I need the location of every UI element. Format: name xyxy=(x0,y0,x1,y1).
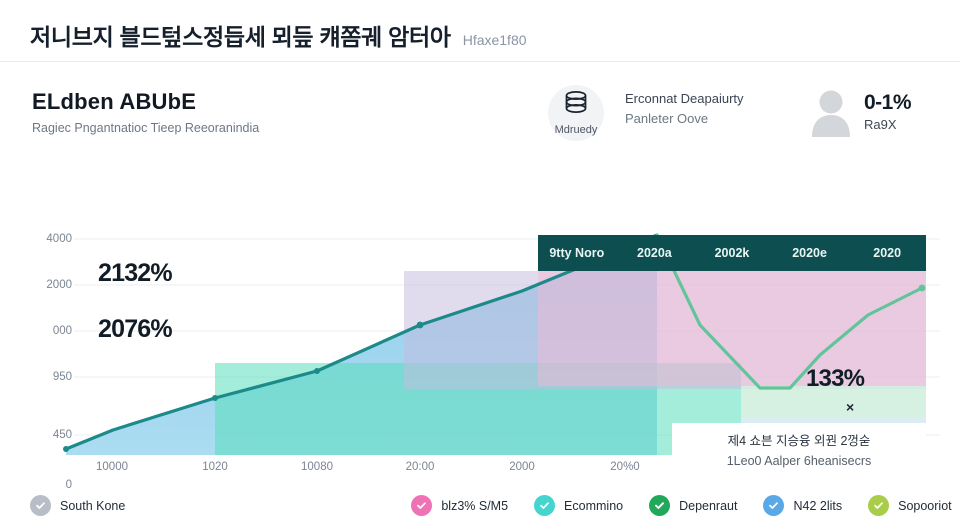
legend-label-2: Ecommino xyxy=(564,499,623,513)
legend-label-0: South Kone xyxy=(60,499,125,513)
user-metric-label: Ra9X xyxy=(864,117,911,132)
y-tick-4: 450 xyxy=(20,429,72,441)
chart-card-header: ELdben ABUbE Ragiec Pngantnatioc Tieep R… xyxy=(0,63,960,155)
memory-metric-caption: Mdruedy xyxy=(555,124,598,136)
capacity-line-2: Panleter Oove xyxy=(625,109,744,129)
user-metric-stat: 0-1% Ra9X xyxy=(864,92,911,132)
legend-label-4: N42 2lits xyxy=(793,499,842,513)
period-ribbon: 9tty Noro 2020a 2002k 2020e 2020 xyxy=(538,235,926,271)
badge-icon xyxy=(868,495,889,516)
page-title: 저니브지 블드텊스정듭세 뫼듶 컈쫌궤 암터아 xyxy=(30,18,451,52)
memory-metric[interactable]: Mdruedy xyxy=(545,85,607,136)
database-icon xyxy=(563,91,589,118)
x-tick-1: 1020 xyxy=(202,461,228,473)
y-axis-ticks: 4000 2000 000 950 450 0 xyxy=(20,155,72,455)
y-tick-0: 4000 xyxy=(20,233,72,245)
ribbon-cell-3[interactable]: 2020e xyxy=(771,246,849,260)
chart-plot-area: 4000 2000 000 950 450 0 xyxy=(0,155,960,455)
annotation-callout-pct: 133% xyxy=(806,365,864,393)
chart-subtitle: Ragiec Pngantnatioc Tieep Reeoranindia xyxy=(32,121,259,135)
legend-item-2[interactable]: Ecommino xyxy=(534,495,623,516)
ribbon-cell-2[interactable]: 2002k xyxy=(693,246,771,260)
chart-legend: South Kone blz3% S/M5 Ecommino Depenraut xyxy=(0,483,960,528)
annotation-pct-top: 2132% xyxy=(98,259,172,288)
legend-label-3: Depenraut xyxy=(679,499,737,513)
badge-icon xyxy=(534,495,555,516)
capacity-line-1: Erconnat Deapaiurty xyxy=(625,89,744,109)
legend-item-3[interactable]: Depenraut xyxy=(649,495,737,516)
badge-icon xyxy=(411,495,432,516)
x-tick-3: 20:00 xyxy=(406,461,435,473)
legend-label-5: Sopooriot xyxy=(898,499,952,513)
legend-item-5[interactable]: Sopooriot xyxy=(868,495,952,516)
page-title-suffix: Hfaxe1f80 xyxy=(463,32,527,48)
x-tick-4: 2000 xyxy=(509,461,535,473)
x-tick-2: 10080 xyxy=(301,461,333,473)
note-tooltip: 제4 쇼븐 지승융 외꿘 2껑숟 1Leo0 Aalper 6heanisecr… xyxy=(672,423,926,481)
ribbon-cell-1[interactable]: 2020a xyxy=(616,246,694,260)
y-tick-2: 000 xyxy=(20,325,72,337)
page-header: 저니브지 블드텊스정듭세 뫼듶 컈쫌궤 암터아 Hfaxe1f80 xyxy=(0,0,960,62)
note-line-2: 1Leo0 Aalper 6heanisecrs xyxy=(682,451,916,471)
chart-title: ELdben ABUbE xyxy=(32,89,196,115)
user-metric[interactable]: 0-1% Ra9X xyxy=(808,87,911,137)
user-avatar-icon xyxy=(808,87,854,137)
ribbon-cell-4[interactable]: 2020 xyxy=(848,246,926,260)
chart-marker-secondary-end xyxy=(919,285,926,292)
x-tick-0: 10000 xyxy=(96,461,128,473)
chart-card: ELdben ABUbE Ragiec Pngantnatioc Tieep R… xyxy=(0,63,960,528)
y-tick-1: 2000 xyxy=(20,279,72,291)
badge-icon xyxy=(30,495,51,516)
legend-label-1: blz3% S/M5 xyxy=(441,499,508,513)
legend-item-4[interactable]: N42 2lits xyxy=(763,495,842,516)
check-badge-icon xyxy=(649,495,670,516)
chart-svg xyxy=(0,155,960,455)
ribbon-cell-0[interactable]: 9tty Noro xyxy=(538,246,616,260)
legend-item-1[interactable]: blz3% S/M5 xyxy=(411,495,508,516)
user-metric-value: 0-1% xyxy=(864,92,911,114)
legend-item-0[interactable]: South Kone xyxy=(30,495,125,516)
y-tick-3: 950 xyxy=(20,371,72,383)
close-icon[interactable]: × xyxy=(846,399,854,415)
x-tick-5: 20%0 xyxy=(610,461,639,473)
note-line-1: 제4 쇼븐 지승융 외꿘 2껑숟 xyxy=(682,431,916,451)
badge-icon xyxy=(763,495,784,516)
capacity-metric-text: Erconnat Deapaiurty Panleter Oove xyxy=(625,89,744,129)
annotation-pct-second: 2076% xyxy=(98,315,172,344)
